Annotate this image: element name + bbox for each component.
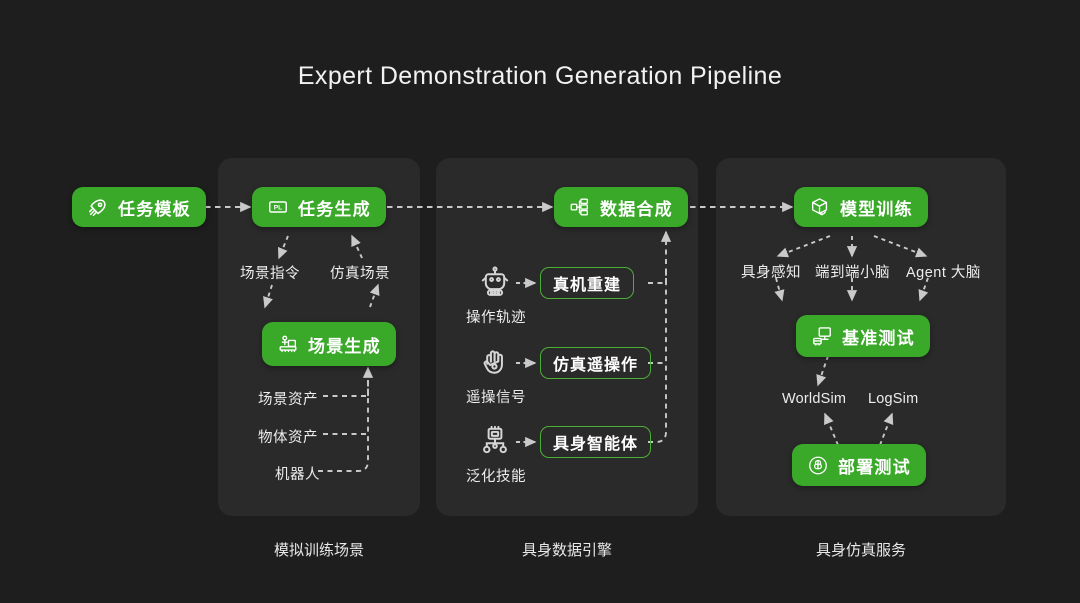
- brain-circle-icon: [807, 454, 829, 476]
- glove-hand-icon: [476, 345, 516, 381]
- cube-refresh-icon: [809, 196, 831, 218]
- node-model-training[interactable]: 模型训练: [794, 187, 928, 227]
- diagram-canvas: Expert Demonstration Generation Pipeline: [0, 0, 1080, 603]
- node-label: 任务模板: [118, 195, 191, 220]
- box-simulated-teleoperation[interactable]: 仿真遥操作: [540, 347, 651, 379]
- note-teleop-signal: 遥操信号: [466, 386, 526, 407]
- note-object-assets: 物体资产: [258, 426, 318, 447]
- note-logsim: LogSim: [868, 391, 918, 407]
- note-generalization-skill: 泛化技能: [466, 465, 526, 486]
- node-label: 场景生成: [308, 332, 381, 357]
- note-end-to-end-cerebellum: 端到端小脑: [815, 261, 890, 282]
- monitor-test-icon: [811, 325, 833, 347]
- note-scene-assets: 场景资产: [258, 388, 318, 409]
- note-agent-brain: Agent 大脑: [906, 261, 981, 282]
- pl-badge-icon: PL: [267, 196, 289, 218]
- node-deployment-test[interactable]: 部署测试: [792, 444, 926, 486]
- node-label: 基准测试: [842, 324, 915, 349]
- note-operation-trajectory: 操作轨迹: [466, 306, 526, 327]
- node-label: 部署测试: [838, 453, 911, 478]
- node-label: 模型训练: [840, 195, 913, 220]
- note-worldsim: WorldSim: [782, 391, 846, 407]
- robot-head-icon: [476, 264, 516, 300]
- node-data-synthesis[interactable]: 数据合成: [554, 187, 688, 227]
- data-sync-icon: [569, 196, 591, 218]
- node-task-template[interactable]: 任务模板: [72, 187, 206, 227]
- box-real-machine-reconstruction[interactable]: 真机重建: [540, 267, 634, 299]
- rocket-icon: [87, 196, 109, 218]
- caption-panel-right: 具身仿真服务: [716, 539, 1006, 560]
- node-label: 任务生成: [298, 195, 371, 220]
- note-simulation-scene: 仿真场景: [330, 262, 390, 283]
- node-label: 数据合成: [600, 195, 673, 220]
- note-embodied-perception: 具身感知: [741, 261, 801, 282]
- caption-panel-mid: 具身数据引擎: [436, 539, 698, 560]
- box-embodied-agent[interactable]: 具身智能体: [540, 426, 651, 458]
- node-benchmark-test[interactable]: 基准测试: [796, 315, 930, 357]
- note-robot: 机器人: [275, 463, 320, 484]
- caption-panel-left: 模拟训练场景: [218, 539, 420, 560]
- node-task-generation[interactable]: PL 任务生成: [252, 187, 386, 227]
- robot-conveyor-icon: [277, 333, 299, 355]
- svg-text:PL: PL: [274, 204, 282, 211]
- node-scene-generation[interactable]: 场景生成: [262, 322, 396, 366]
- note-scene-instruction: 场景指令: [240, 262, 300, 283]
- page-title: Expert Demonstration Generation Pipeline: [0, 62, 1080, 91]
- chip-network-icon: [476, 424, 516, 460]
